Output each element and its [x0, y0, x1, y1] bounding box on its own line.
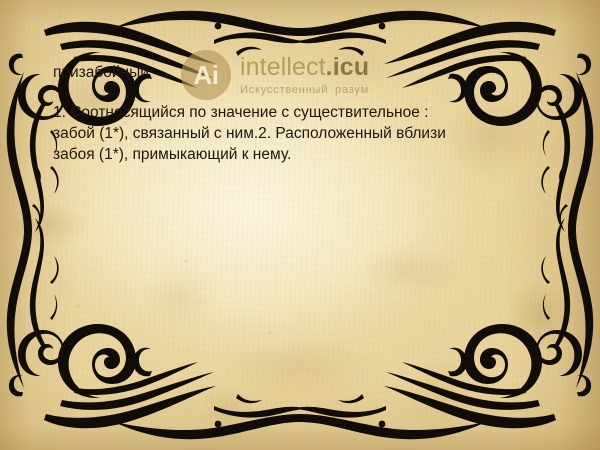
definition-text: 1. Соотносящийся по значение с существит… — [53, 103, 449, 165]
term-headword: призабойный — [53, 63, 453, 82]
dictionary-card: Ai intellect.icu Искусственный разум при… — [0, 0, 600, 450]
definition-content: призабойный 1. Соотносящийся по значение… — [53, 63, 453, 165]
